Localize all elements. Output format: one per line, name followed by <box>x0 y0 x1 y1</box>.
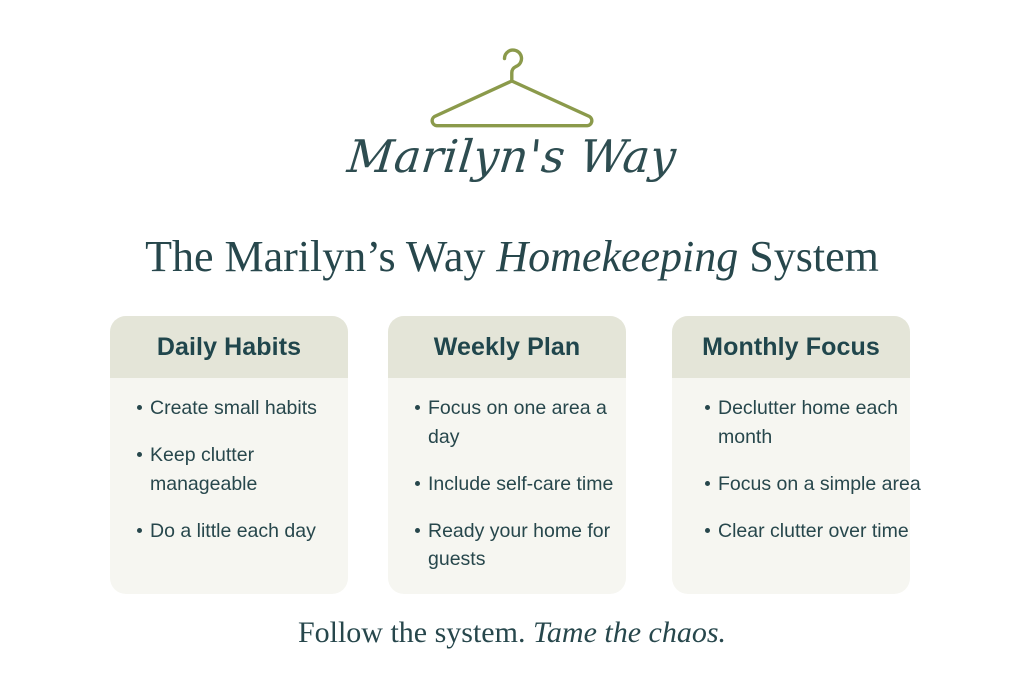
brand-block: Marilyn's Way <box>0 36 1024 179</box>
card-body: Focus on one area a day Include self-car… <box>388 378 640 574</box>
brand-name: Marilyn's Way <box>0 134 1024 179</box>
page-title-part2: System <box>738 232 879 281</box>
card-group: Daily Habits Create small habits Keep cl… <box>110 316 916 594</box>
card-daily-habits: Daily Habits Create small habits Keep cl… <box>110 316 348 594</box>
bullet-list: Declutter home each month Focus on a sim… <box>692 394 930 545</box>
list-item: Create small habits <box>124 394 362 423</box>
clothes-hanger-icon <box>424 36 600 128</box>
list-item: Focus on one area a day <box>402 394 640 452</box>
page-title-emphasis: Homekeeping <box>496 232 738 281</box>
card-body: Declutter home each month Focus on a sim… <box>672 378 930 545</box>
card-monthly-focus: Monthly Focus Declutter home each month … <box>672 316 910 594</box>
tagline: Follow the system. Tame the chaos. <box>0 616 1024 650</box>
infographic-page: Marilyn's Way The Marilyn’s Way Homekeep… <box>0 0 1024 683</box>
list-item: Do a little each day <box>124 517 362 546</box>
list-item-label: Keep clutter manageable <box>150 444 257 495</box>
bullet-dot-icon <box>415 481 420 486</box>
list-item-label: Clear clutter over time <box>718 520 909 542</box>
bullet-dot-icon <box>137 452 142 457</box>
page-title: The Marilyn’s Way Homekeeping System <box>0 232 1024 281</box>
tagline-part1: Follow the system. <box>298 616 533 649</box>
bullet-dot-icon <box>415 405 420 410</box>
list-item: Include self-care time <box>402 470 640 499</box>
card-title: Weekly Plan <box>434 335 581 360</box>
list-item-label: Declutter home each month <box>718 397 898 448</box>
bullet-dot-icon <box>137 528 142 533</box>
list-item: Ready your home for guests <box>402 517 640 575</box>
card-title: Daily Habits <box>157 335 301 360</box>
card-weekly-plan: Weekly Plan Focus on one area a day Incl… <box>388 316 626 594</box>
bullet-dot-icon <box>137 405 142 410</box>
list-item: Clear clutter over time <box>692 517 930 546</box>
list-item-label: Include self-care time <box>428 473 613 495</box>
bullet-list: Create small habits Keep clutter managea… <box>124 394 362 545</box>
list-item: Keep clutter manageable <box>124 441 362 499</box>
bullet-dot-icon <box>705 528 710 533</box>
list-item-label: Create small habits <box>150 397 317 419</box>
list-item-label: Ready your home for guests <box>428 520 610 571</box>
list-item-label: Do a little each day <box>150 520 316 542</box>
list-item-label: Focus on a simple area <box>718 473 921 495</box>
card-header: Weekly Plan <box>388 316 626 378</box>
list-item: Declutter home each month <box>692 394 930 452</box>
card-header: Monthly Focus <box>672 316 910 378</box>
bullet-dot-icon <box>415 528 420 533</box>
page-title-part1: The Marilyn’s Way <box>145 232 496 281</box>
bullet-dot-icon <box>705 405 710 410</box>
list-item-label: Focus on one area a day <box>428 397 607 448</box>
bullet-dot-icon <box>705 481 710 486</box>
card-title: Monthly Focus <box>702 335 880 360</box>
card-body: Create small habits Keep clutter managea… <box>110 378 362 545</box>
bullet-list: Focus on one area a day Include self-car… <box>402 394 640 574</box>
card-header: Daily Habits <box>110 316 348 378</box>
list-item: Focus on a simple area <box>692 470 930 499</box>
tagline-emphasis: Tame the chaos. <box>533 616 726 649</box>
